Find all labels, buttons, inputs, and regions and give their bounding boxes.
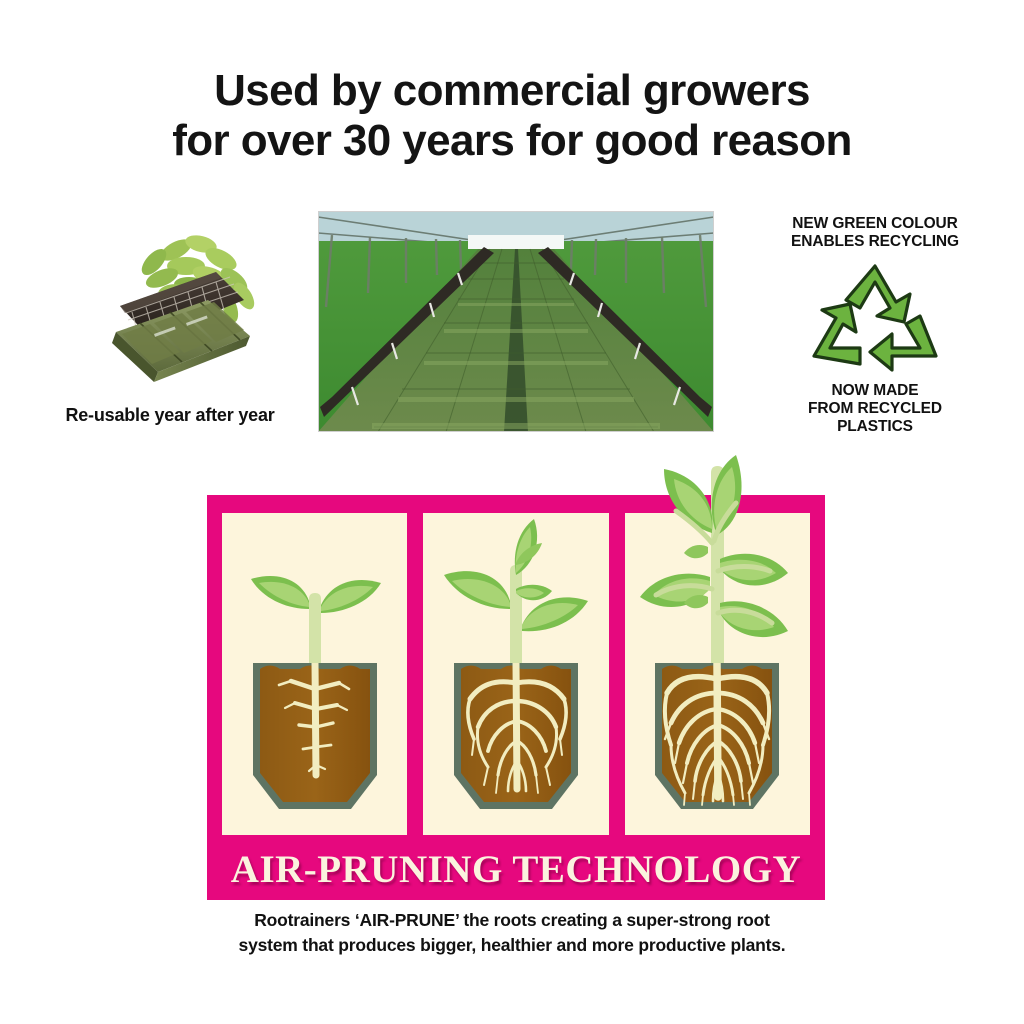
left-photo-caption: Re-usable year after year <box>20 405 320 426</box>
rootrainer-propagator-photo <box>58 214 298 394</box>
greenhouse-illustration <box>318 211 714 432</box>
bottom-caption-line-2: system that produces bigger, healthier a… <box>182 933 842 958</box>
recycling-heading: NEW GREEN COLOUR ENABLES RECYCLING <box>770 215 980 252</box>
banner-label: AIR-PRUNING TECHNOLOGY <box>231 847 801 892</box>
growth-stage-cells <box>222 513 810 835</box>
air-pruning-banner: AIR-PRUNING TECHNOLOGY <box>207 838 825 900</box>
infographic-root: Used by commercial growers for over 30 y… <box>0 0 1024 1024</box>
page-title: Used by commercial growers for over 30 y… <box>0 66 1024 166</box>
recycling-subtext-line-2: FROM RECYCLED <box>770 400 980 418</box>
recycling-subtext-line-3: PLASTICS <box>770 418 980 436</box>
growth-stage-cell-1 <box>222 513 407 835</box>
recycling-subtext-line-1: NOW MADE <box>770 382 980 400</box>
bottom-caption: Rootrainers ‘AIR-PRUNE’ the roots creati… <box>182 908 842 958</box>
bottom-caption-line-1: Rootrainers ‘AIR-PRUNE’ the roots creati… <box>182 908 842 933</box>
air-pruning-panel: AIR-PRUNING TECHNOLOGY <box>207 495 825 900</box>
propagator-illustration <box>58 214 298 394</box>
headline-line-1: Used by commercial growers <box>214 66 810 115</box>
recycling-heading-line-1: NEW GREEN COLOUR <box>770 215 980 233</box>
stage-1-plant-illustration <box>221 513 409 835</box>
stage-2-plant-illustration <box>422 513 610 835</box>
headline-line-2: for over 30 years for good reason <box>0 116 1024 166</box>
recycling-icon <box>800 260 950 372</box>
growth-stage-cell-3 <box>625 513 810 835</box>
recycling-heading-line-2: ENABLES RECYCLING <box>770 233 980 251</box>
greenhouse-photo <box>318 211 714 432</box>
stage-3-plant-illustration <box>602 455 832 835</box>
recycling-subtext: NOW MADE FROM RECYCLED PLASTICS <box>770 382 980 437</box>
growth-stage-cell-2 <box>423 513 608 835</box>
recycling-block: NEW GREEN COLOUR ENABLES RECYCLING NOW M… <box>770 215 980 436</box>
